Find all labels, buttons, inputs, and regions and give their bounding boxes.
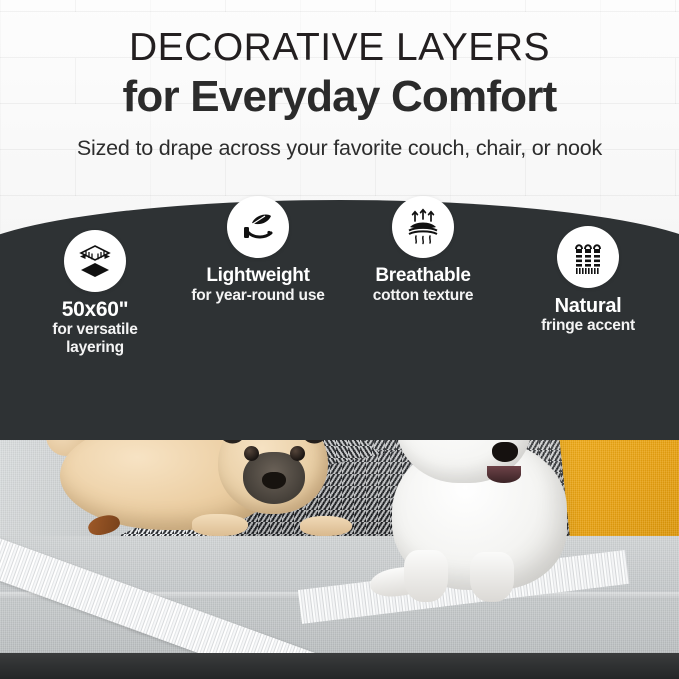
- feature-badges: 50x60" for versatile layering Lightweigh…: [0, 0, 679, 679]
- feature-badge-title: 50x60": [28, 299, 162, 321]
- feature-badge-natural: Natural fringe accent: [520, 226, 656, 335]
- stacked-layers-icon: [64, 230, 126, 292]
- fringe-tassels-icon: [557, 226, 619, 288]
- feature-badge-subtitle: for versatile layering: [28, 321, 162, 357]
- feature-badge-subtitle: fringe accent: [520, 317, 656, 335]
- breathable-fabric-airflow-icon: [392, 196, 454, 258]
- feature-badge-breathable: Breathable cotton texture: [354, 196, 492, 305]
- product-infographic: DECORATIVE LAYERS for Everyday Comfort S…: [0, 0, 679, 679]
- feature-badge-subtitle: cotton texture: [354, 287, 492, 305]
- feature-badge-title: Natural: [520, 295, 656, 317]
- feature-badge-lightweight: Lightweight for year-round use: [168, 196, 348, 305]
- feather-on-hand-icon: [227, 196, 289, 258]
- feature-badge-title: Lightweight: [168, 265, 348, 287]
- feature-badge-subtitle: for year-round use: [168, 287, 348, 305]
- feature-badge-title: Breathable: [354, 265, 492, 287]
- feature-badge-size: 50x60" for versatile layering: [28, 230, 162, 357]
